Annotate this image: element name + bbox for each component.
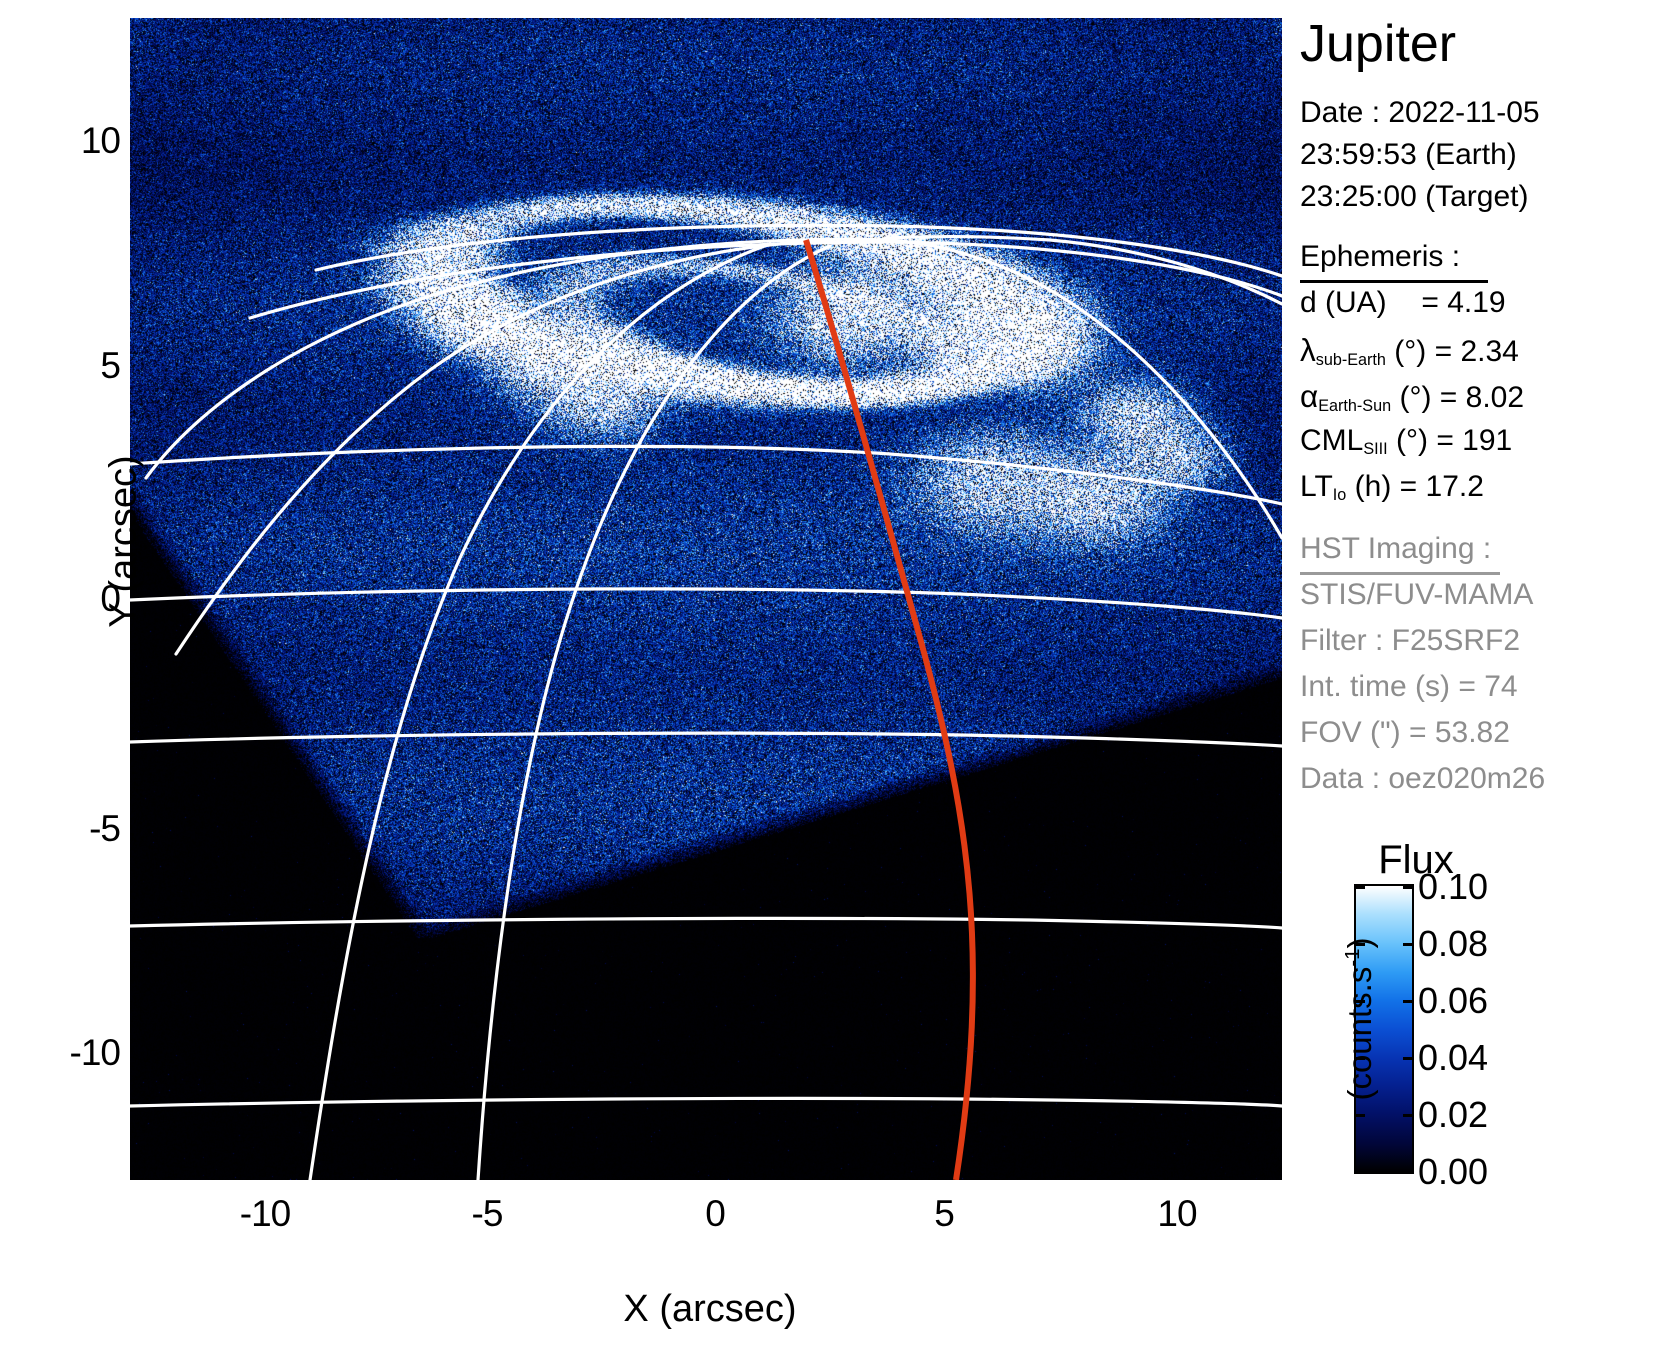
xtick-label-5: 5 bbox=[911, 1193, 977, 1235]
observation-time-target: 23:25:00 (Target) bbox=[1300, 180, 1528, 214]
ephemeris-io-local-time: LTIo (h) = 17.2 bbox=[1300, 470, 1484, 504]
lt-unit: (h) bbox=[1355, 470, 1392, 503]
observation-date: Date : 2022-11-05 bbox=[1300, 96, 1540, 130]
colorbar-unit-exponent: -1 bbox=[1341, 948, 1364, 966]
ephemeris-cml: CMLSIII (°) = 191 bbox=[1300, 424, 1512, 458]
cml-value: = 191 bbox=[1436, 424, 1512, 457]
colorbar-tick-004: 0.04 bbox=[1418, 1037, 1488, 1079]
colorbar-tick-008: 0.08 bbox=[1418, 923, 1488, 965]
page-title: Jupiter bbox=[1300, 14, 1456, 74]
aurora-image-plot bbox=[130, 18, 1282, 1180]
lambda-subscript: sub-Earth bbox=[1316, 351, 1386, 369]
lambda-unit: (°) bbox=[1394, 335, 1426, 368]
lambda-value: = 2.34 bbox=[1435, 335, 1519, 368]
cml-unit: (°) bbox=[1396, 424, 1428, 457]
imaging-fov: FOV (") = 53.82 bbox=[1300, 716, 1510, 750]
xtick-label-0: 0 bbox=[682, 1193, 748, 1235]
xtick-label-neg10: -10 bbox=[220, 1193, 310, 1235]
alpha-symbol: α bbox=[1300, 378, 1318, 414]
ephemeris-distance-label: d (UA) bbox=[1300, 286, 1387, 319]
alpha-unit: (°) bbox=[1399, 381, 1431, 414]
latitude-lines bbox=[130, 225, 1282, 1106]
cml-subscript: SIII bbox=[1363, 440, 1387, 458]
imaging-filter: Filter : F25SRF2 bbox=[1300, 624, 1520, 658]
ytick-label-5: 5 bbox=[40, 345, 120, 387]
imaging-instrument: STIS/FUV-MAMA bbox=[1300, 578, 1533, 612]
cml-label: CML bbox=[1300, 424, 1363, 457]
ytick-label-10: 10 bbox=[40, 120, 120, 162]
ephemeris-distance: d (UA) = 4.19 bbox=[1300, 286, 1506, 320]
graticule-overlay bbox=[130, 18, 1282, 1180]
imaging-divider bbox=[1300, 572, 1500, 575]
info-panel: Jupiter Date : 2022-11-05 23:59:53 (Eart… bbox=[1296, 0, 1676, 1367]
ephemeris-distance-value: = 4.19 bbox=[1421, 286, 1505, 319]
colorbar-tick-006: 0.06 bbox=[1418, 980, 1488, 1022]
ephemeris-divider bbox=[1300, 280, 1488, 283]
colorbar-unit-prefix: (counts.s bbox=[1341, 967, 1378, 1101]
io-footprint-trace bbox=[806, 240, 973, 1180]
alpha-subscript: Earth-Sun bbox=[1318, 397, 1391, 415]
lt-value: = 17.2 bbox=[1400, 470, 1484, 503]
lambda-symbol: λ bbox=[1300, 332, 1316, 368]
imaging-heading: HST Imaging : bbox=[1300, 532, 1491, 566]
observation-time-earth: 23:59:53 (Earth) bbox=[1300, 138, 1517, 172]
longitude-lines bbox=[146, 237, 1282, 1180]
y-axis-title: Y (arcsec) bbox=[103, 392, 146, 692]
lt-subscript: Io bbox=[1333, 486, 1347, 504]
xtick-label-neg5: -5 bbox=[447, 1193, 527, 1235]
colorbar-tick-000: 0.00 bbox=[1418, 1151, 1488, 1193]
ytick-label-neg10: -10 bbox=[16, 1032, 120, 1074]
xtick-label-10: 10 bbox=[1135, 1193, 1219, 1235]
colorbar-unit-label: (counts.s-1) bbox=[1341, 869, 1379, 1169]
lt-label: LT bbox=[1300, 470, 1333, 503]
alpha-value: = 8.02 bbox=[1440, 381, 1524, 414]
colorbar-tick-010: 0.10 bbox=[1418, 866, 1488, 908]
imaging-dataset: Data : oez020m26 bbox=[1300, 762, 1545, 796]
imaging-integration-time: Int. time (s) = 74 bbox=[1300, 670, 1518, 704]
ephemeris-heading: Ephemeris : bbox=[1300, 240, 1460, 274]
colorbar-tick-002: 0.02 bbox=[1418, 1094, 1488, 1136]
ephemeris-phase-angle: αEarth-Sun (°) = 8.02 bbox=[1300, 378, 1524, 415]
x-axis-title: X (arcsec) bbox=[430, 1288, 990, 1331]
colorbar-unit-suffix: ) bbox=[1341, 937, 1378, 948]
ephemeris-sub-earth-latitude: λsub-Earth (°) = 2.34 bbox=[1300, 332, 1519, 369]
ytick-label-neg5: -5 bbox=[28, 808, 120, 850]
